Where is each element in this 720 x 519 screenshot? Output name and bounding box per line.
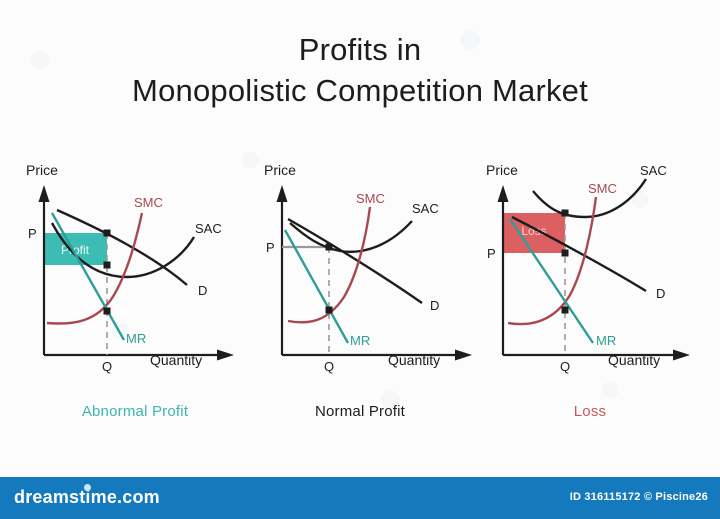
chart-panel-loss: Loss Price Quantity P Q SAC D SMC MR [470, 155, 710, 385]
mr-curve-label: MR [596, 333, 616, 348]
y-axis-arrow [277, 185, 288, 202]
marker-tangency-point [326, 244, 333, 251]
chart-svg-abnormal-profit: Profit Price Quantity P Q D SAC SMC [2, 155, 242, 385]
p-tick-label: P [266, 240, 275, 255]
p-tick-label: P [28, 226, 37, 241]
q-tick-label: Q [324, 359, 334, 374]
y-axis-title: Price [486, 162, 518, 178]
image-credit: ID 316115172 © Piscine26 [570, 491, 708, 503]
smc-curve-label: SMC [588, 181, 617, 196]
caption-normal-profit: Normal Profit [240, 403, 480, 420]
chart-panel-abnormal-profit: Profit Price Quantity P Q D SAC SMC [2, 155, 242, 385]
page-title: Profits in Monopolistic Competition Mark… [0, 30, 720, 112]
q-tick-label: Q [102, 359, 112, 374]
x-axis-title: Quantity [150, 352, 202, 368]
marker-cost-on-sac [562, 210, 569, 217]
demand-curve-label: D [430, 298, 439, 313]
marker-cost-on-sac [104, 262, 111, 269]
p-tick-label: P [487, 246, 496, 261]
sac-curve-label: SAC [412, 201, 439, 216]
title-line-1: Profits in [0, 30, 720, 71]
demand-curve-label: D [656, 286, 665, 301]
dreamstime-logo-dot-icon [84, 484, 91, 491]
mr-curve-label: MR [126, 331, 146, 346]
smc-curve-label: SMC [356, 191, 385, 206]
x-axis-title: Quantity [388, 352, 440, 368]
demand-curve-label: D [198, 283, 207, 298]
poster-canvas: Profits in Monopolistic Competition Mark… [0, 0, 720, 519]
x-axis-arrow [673, 350, 690, 361]
loss-shade-label: Loss [521, 224, 546, 238]
marker-mr-equals-smc [326, 307, 333, 314]
marker-mr-equals-smc [562, 307, 569, 314]
y-axis-title: Price [26, 162, 58, 178]
sac-curve-label: SAC [640, 163, 667, 178]
x-axis-title: Quantity [608, 352, 660, 368]
q-tick-label: Q [560, 359, 570, 374]
smc-curve-label: SMC [134, 195, 163, 210]
mr-curve-label: MR [350, 333, 370, 348]
y-axis-title: Price [264, 162, 296, 178]
footer-bar: dreamstime.com ID 316115172 © Piscine26 [0, 477, 720, 519]
chart-svg-normal-profit: Price Quantity P Q SAC D SMC MR [240, 155, 480, 385]
caption-loss: Loss [470, 403, 710, 420]
marker-price-on-demand [562, 250, 569, 257]
sac-curve-label: SAC [195, 221, 222, 236]
title-line-2: Monopolistic Competition Market [0, 71, 720, 112]
y-axis-arrow [39, 185, 50, 202]
chart-svg-loss: Loss Price Quantity P Q SAC D SMC MR [470, 155, 710, 385]
caption-abnormal-profit: Abnormal Profit [15, 403, 255, 420]
chart-panel-normal-profit: Price Quantity P Q SAC D SMC MR [240, 155, 480, 385]
x-axis-arrow [217, 350, 234, 361]
marker-price-on-demand [104, 230, 111, 237]
marker-mr-equals-smc [104, 308, 111, 315]
y-axis-arrow [498, 185, 509, 202]
